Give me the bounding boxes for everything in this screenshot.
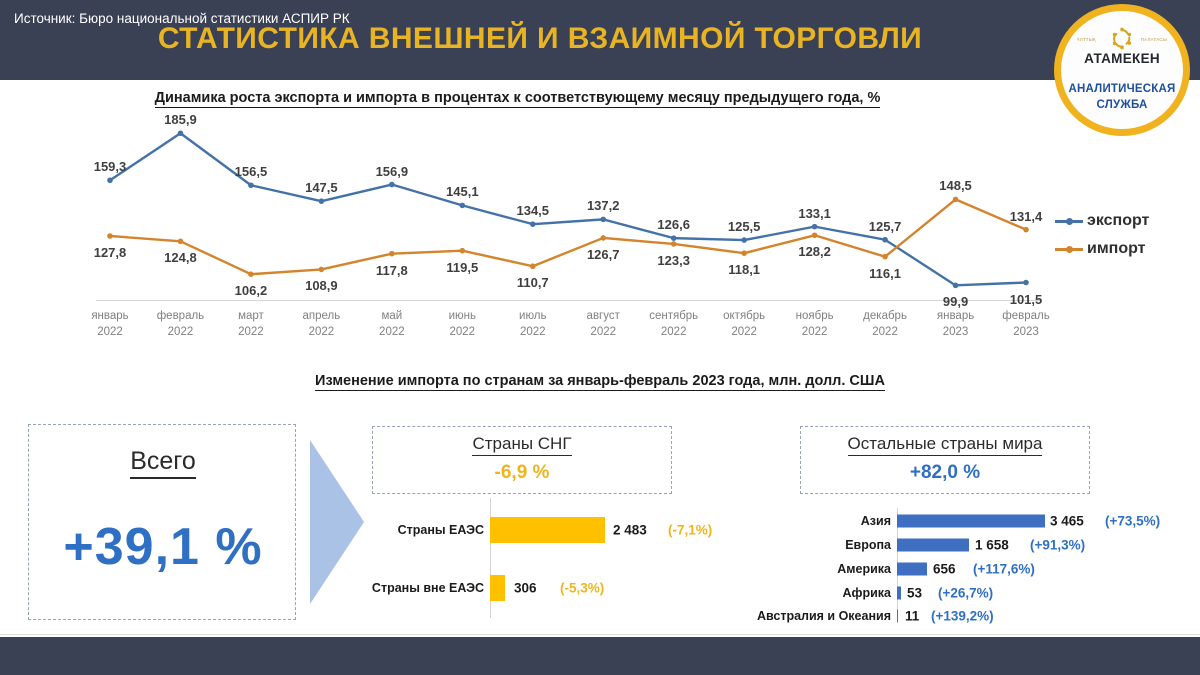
world-bar-rect-0 <box>897 515 1045 528</box>
line-series-импорт <box>110 199 1026 274</box>
logo-subtitle-line1: АНАЛИТИЧЕСКАЯ <box>1069 82 1176 97</box>
total-label: Всего <box>29 447 297 476</box>
data-label: 133,1 <box>798 206 831 221</box>
cis-bar-value-0: 2 483 <box>613 523 647 538</box>
world-bar-change-2: (+117,6%) <box>973 562 1035 577</box>
data-point <box>1023 227 1029 233</box>
data-label: 116,1 <box>869 266 901 281</box>
x-axis-tick: июнь2022 <box>449 309 476 340</box>
world-bar-rect-4 <box>897 610 898 623</box>
logo-brand-name: АТАМЕКЕН <box>1084 52 1160 66</box>
x-axis-tick: август2022 <box>587 309 620 340</box>
legend-item-import[interactable]: импорт <box>1055 235 1195 263</box>
data-point <box>389 182 395 188</box>
cis-group-name: Страны СНГ <box>472 434 571 456</box>
data-label: 147,5 <box>305 180 338 195</box>
atameken-emblem-icon <box>1109 27 1135 51</box>
line-series-экспорт <box>110 133 1026 285</box>
cis-bar-change-0: (-7,1%) <box>668 523 712 538</box>
data-point <box>1023 280 1029 286</box>
logo-subtitle-line2: СЛУЖБА <box>1069 98 1176 113</box>
logo-subtitle: АНАЛИТИЧЕСКАЯ СЛУЖБА <box>1069 82 1176 112</box>
legend-label-export: экспорт <box>1087 212 1149 230</box>
data-label: 126,6 <box>657 217 690 232</box>
world-bar-rect-1 <box>897 539 969 552</box>
data-point <box>882 254 888 260</box>
world-bar-change-1: (+91,3%) <box>1030 538 1085 553</box>
data-label: 131,4 <box>1010 209 1043 224</box>
legend-item-export[interactable]: экспорт <box>1055 207 1195 235</box>
x-axis-tick: ноябрь2022 <box>796 309 834 340</box>
x-axis-tick: март2022 <box>238 309 264 340</box>
data-point <box>953 197 959 203</box>
source-note: Источник: Бюро национальной статистики А… <box>14 11 350 26</box>
data-label: 126,7 <box>587 247 620 262</box>
data-label: 148,5 <box>939 178 972 193</box>
cis-group: Страны СНГ -6,9 % <box>372 426 672 494</box>
data-label: 110,7 <box>517 275 549 290</box>
data-point <box>882 237 888 243</box>
data-label: 123,3 <box>657 253 690 268</box>
logo-side-text-right: ПАЛАТАСЫ <box>1141 37 1167 42</box>
world-bar-value-2: 656 <box>933 562 956 577</box>
data-label: 137,2 <box>587 198 620 213</box>
data-point <box>389 251 395 257</box>
footer-divider <box>0 634 1200 635</box>
world-bar-value-1: 1 658 <box>975 538 1009 553</box>
x-axis-tick: июль2022 <box>519 309 547 340</box>
legend-label-import: импорт <box>1087 240 1146 258</box>
data-point <box>741 250 747 256</box>
footer-bar <box>0 637 1200 675</box>
data-point <box>530 221 536 227</box>
cis-bar-change-1: (-5,3%) <box>560 581 604 596</box>
data-label: 125,5 <box>728 219 761 234</box>
data-label: 156,5 <box>235 164 268 179</box>
x-axis-tick: январь2022 <box>91 309 128 340</box>
world-bar-label-4: Австралия и Океания <box>757 609 897 623</box>
data-point <box>248 182 254 188</box>
world-group-name: Остальные страны мира <box>848 434 1043 456</box>
data-label: 128,2 <box>798 244 831 259</box>
data-point <box>319 267 325 273</box>
x-axis-tick: декабрь2022 <box>863 309 907 340</box>
x-axis-tick: февраль2023 <box>1002 309 1049 340</box>
data-point <box>600 235 606 241</box>
x-axis-tick: январь2023 <box>937 309 974 340</box>
data-point <box>178 130 184 136</box>
x-axis-tick: февраль2022 <box>157 309 204 340</box>
world-bar-rect-3 <box>897 587 901 600</box>
total-label-text: Всего <box>130 447 196 479</box>
data-label: 124,8 <box>164 250 197 265</box>
world-bar-change-0: (+73,5%) <box>1105 514 1160 529</box>
world-bar-rect-2 <box>897 563 927 576</box>
world-bar-label-3: Африка <box>843 586 898 600</box>
cis-bar-chart: Страны ЕАЭС 2 483 (-7,1%) Страны вне ЕАЭ… <box>490 500 790 618</box>
bar-section-title-text: Изменение импорта по странам за январь-ф… <box>315 373 885 391</box>
data-point <box>671 235 677 241</box>
data-label: 134,5 <box>516 203 549 218</box>
data-point <box>953 283 959 289</box>
data-point <box>812 232 818 238</box>
data-label: 159,3 <box>94 159 127 174</box>
world-group-percent: +82,0 % <box>811 462 1079 484</box>
data-point <box>107 177 113 183</box>
data-label: 119,5 <box>446 260 478 275</box>
data-point <box>812 224 818 230</box>
world-bar-value-4: 11 <box>905 609 919 624</box>
total-panel: Всего +39,1 % <box>28 424 296 620</box>
x-axis-tick: сентябрь2022 <box>649 309 698 340</box>
data-label: 106,2 <box>235 283 268 298</box>
cis-group-header: Страны СНГ -6,9 % <box>372 426 672 494</box>
page-title: СТАТИСТИКА ВНЕШНЕЙ И ВЗАИМНОЙ ТОРГОВЛИ <box>0 22 1080 56</box>
world-bar-change-4: (+139,2%) <box>931 609 994 624</box>
world-bar-change-3: (+26,7%) <box>938 586 993 601</box>
cis-bar-value-1: 306 <box>514 581 537 596</box>
cis-bar-label-0: Страны ЕАЭС <box>398 523 490 537</box>
line-chart-title-text: Динамика роста экспорта и импорта в проц… <box>155 90 881 108</box>
x-axis-tick: май2022 <box>379 309 405 340</box>
data-label: 117,8 <box>376 263 408 278</box>
world-bar-value-3: 53 <box>907 586 922 601</box>
legend-swatch-export-icon <box>1055 216 1083 227</box>
cis-bar-label-1: Страны вне ЕАЭС <box>372 581 490 595</box>
data-point <box>530 263 536 269</box>
data-point <box>671 241 677 247</box>
data-label: 127,8 <box>94 245 127 260</box>
data-point <box>460 248 466 254</box>
data-label: 145,1 <box>446 184 479 199</box>
data-point <box>107 233 113 239</box>
world-bar-value-0: 3 465 <box>1050 514 1084 529</box>
data-point <box>248 271 254 277</box>
atameken-logo: ҰЛТТЫҚ ПАЛАТАСЫ АТАМЕКЕН АНАЛИТИЧЕСКАЯ С… <box>1054 4 1190 136</box>
data-label: 185,9 <box>164 112 197 127</box>
total-value: +39,1 % <box>29 517 297 577</box>
world-bar-label-2: Америка <box>837 562 897 576</box>
world-bar-label-0: Азия <box>861 514 897 528</box>
data-label: 156,9 <box>376 164 409 179</box>
x-axis-tick: апрель2022 <box>303 309 341 340</box>
data-point <box>600 217 606 223</box>
line-chart-legend: экспорт импорт <box>1055 207 1195 263</box>
data-label: 118,1 <box>728 262 760 277</box>
world-group: Остальные страны мира +82,0 % <box>800 426 1090 494</box>
data-point <box>178 239 184 245</box>
line-chart-title: Динамика роста экспорта и импорта в проц… <box>0 90 1035 106</box>
line-chart-x-axis-labels: январь2022февраль2022март2022апрель2022м… <box>96 305 1040 349</box>
world-bar-label-1: Европа <box>845 538 897 552</box>
world-bar-chart: Азия 3 465 (+73,5%) Европа 1 658 (+91,3%… <box>897 508 1197 618</box>
right-arrow-icon <box>306 440 366 604</box>
data-point <box>460 203 466 209</box>
bar-section-title: Изменение импорта по странам за январь-ф… <box>0 373 1200 389</box>
cis-bar-rect-0 <box>490 517 605 543</box>
data-point <box>741 237 747 243</box>
cis-group-percent: -6,9 % <box>383 462 661 484</box>
logo-side-text-left: ҰЛТТЫҚ <box>1077 37 1096 42</box>
world-group-header: Остальные страны мира +82,0 % <box>800 426 1090 494</box>
data-label: 108,9 <box>305 278 338 293</box>
cis-bar-rect-1 <box>490 575 505 601</box>
x-axis-tick: октябрь2022 <box>723 309 765 340</box>
line-chart-axis <box>96 300 1040 301</box>
data-label: 125,7 <box>869 219 902 234</box>
data-point <box>319 198 325 204</box>
legend-swatch-import-icon <box>1055 244 1083 255</box>
